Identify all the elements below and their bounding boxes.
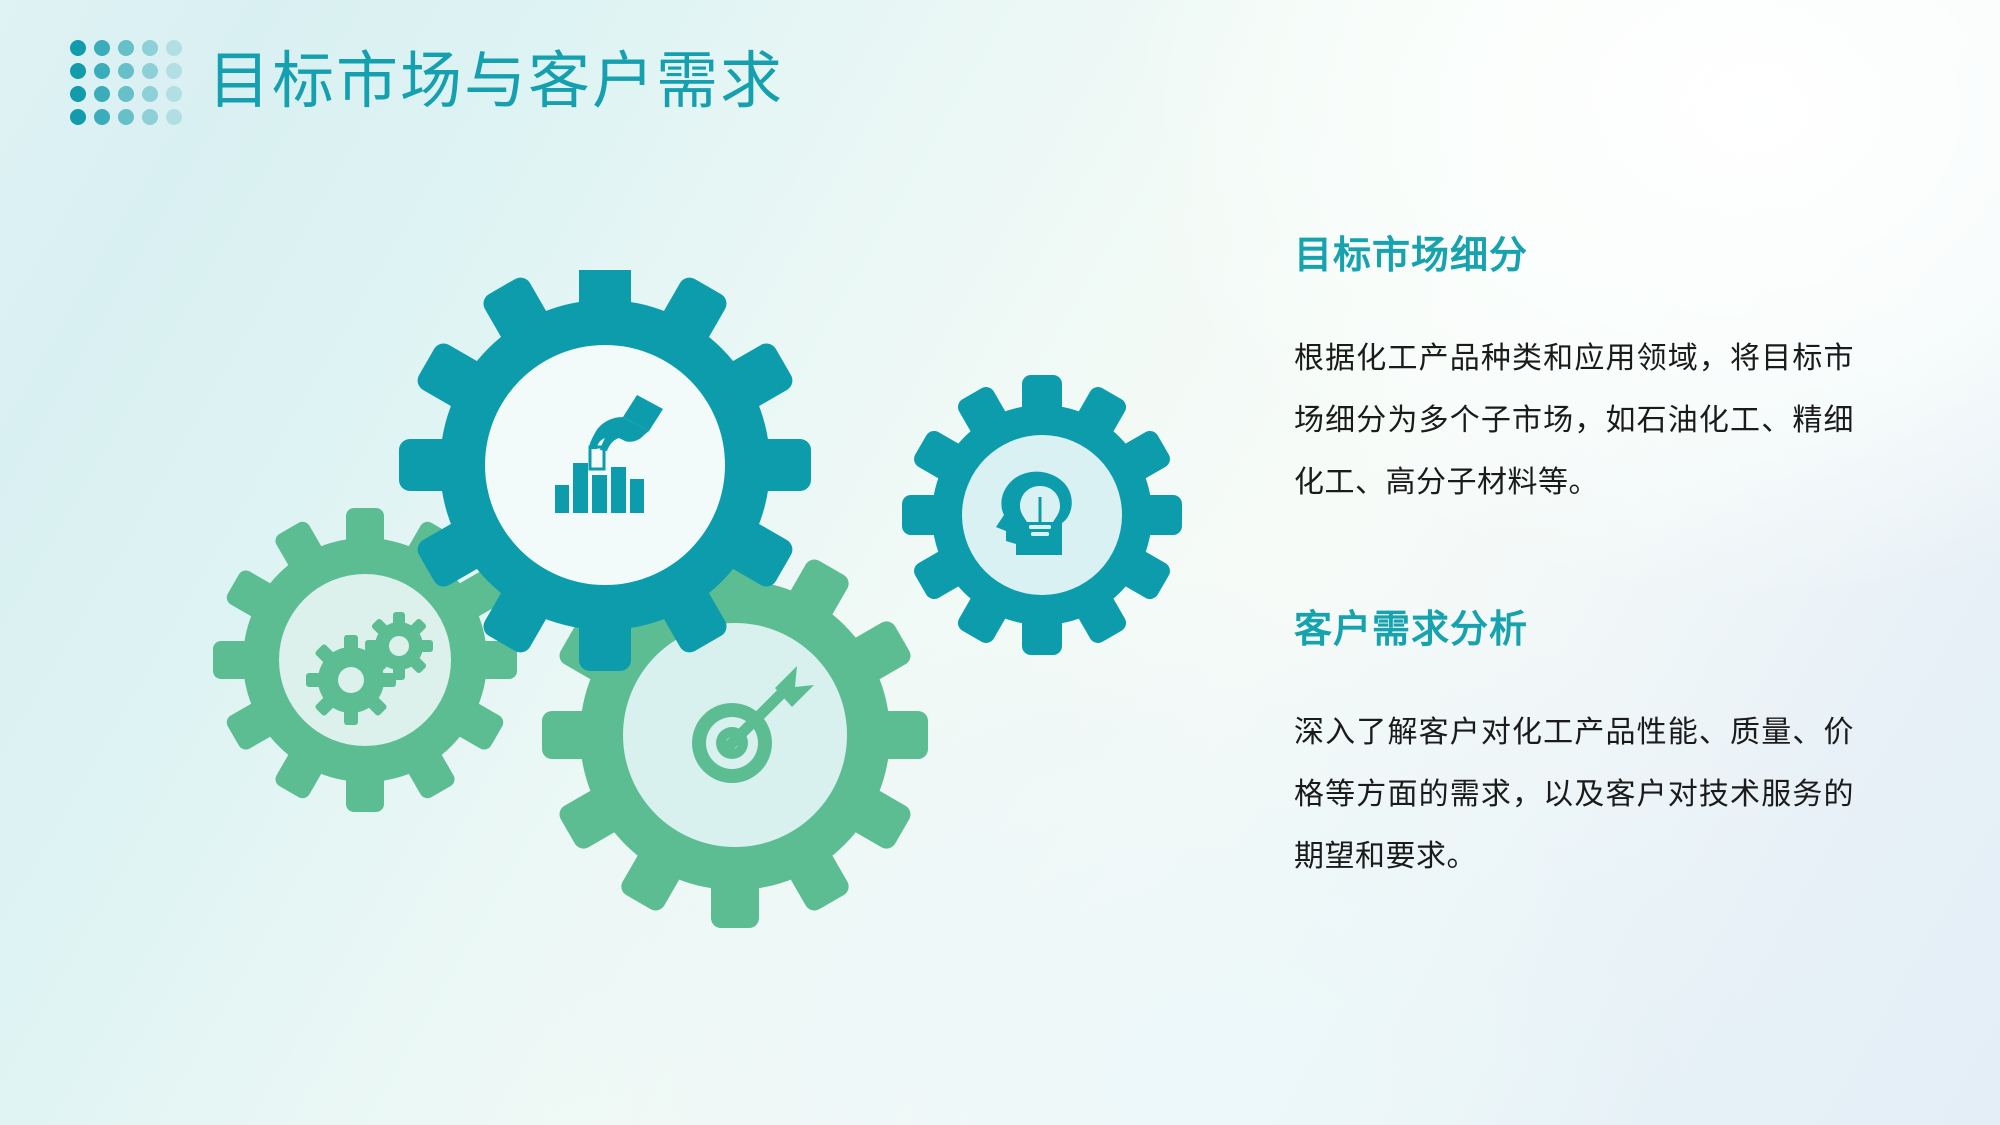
logo-dot — [70, 40, 86, 56]
logo-dot — [118, 40, 134, 56]
logo-dot — [118, 109, 134, 125]
logo-dot — [166, 40, 182, 56]
content-column: 目标市场细分 根据化工产品种类和应用领域，将目标市场细分为多个子市场，如石油化工… — [1294, 232, 1854, 888]
logo-dot — [166, 109, 182, 125]
logo-dot — [70, 63, 86, 79]
block-body: 深入了解客户对化工产品性能、质量、价格等方面的需求，以及客户对技术服务的期望和要… — [1294, 702, 1854, 888]
page-title: 目标市场与客户需求 — [208, 42, 784, 122]
block-heading: 客户需求分析 — [1294, 606, 1854, 654]
slide-header: 目标市场与客户需求 — [0, 0, 2000, 180]
logo-dot — [94, 40, 110, 56]
logo-dot — [142, 40, 158, 56]
logo-dot — [166, 86, 182, 102]
dot-grid-logo — [70, 40, 184, 127]
logo-dot — [142, 86, 158, 102]
logo-dot — [70, 109, 86, 125]
logo-dot — [70, 86, 86, 102]
slide-canvas: 目标市场与客户需求 — [0, 0, 2000, 1125]
logo-dot — [166, 63, 182, 79]
logo-dot — [142, 109, 158, 125]
gear-idea — [902, 375, 1182, 655]
logo-dot — [94, 63, 110, 79]
logo-dot — [94, 109, 110, 125]
logo-dot — [118, 63, 134, 79]
logo-dot — [142, 63, 158, 79]
logo-dot — [118, 86, 134, 102]
content-block-customer-needs: 客户需求分析 深入了解客户对化工产品性能、质量、价格等方面的需求，以及客户对技术… — [1294, 606, 1854, 888]
logo-dot — [94, 86, 110, 102]
block-body: 根据化工产品种类和应用领域，将目标市场细分为多个子市场，如石油化工、精细化工、高… — [1294, 328, 1854, 514]
block-heading: 目标市场细分 — [1294, 232, 1854, 280]
content-block-market-segmentation: 目标市场细分 根据化工产品种类和应用领域，将目标市场细分为多个子市场，如石油化工… — [1294, 232, 1854, 514]
gears-illustration — [180, 270, 1240, 990]
